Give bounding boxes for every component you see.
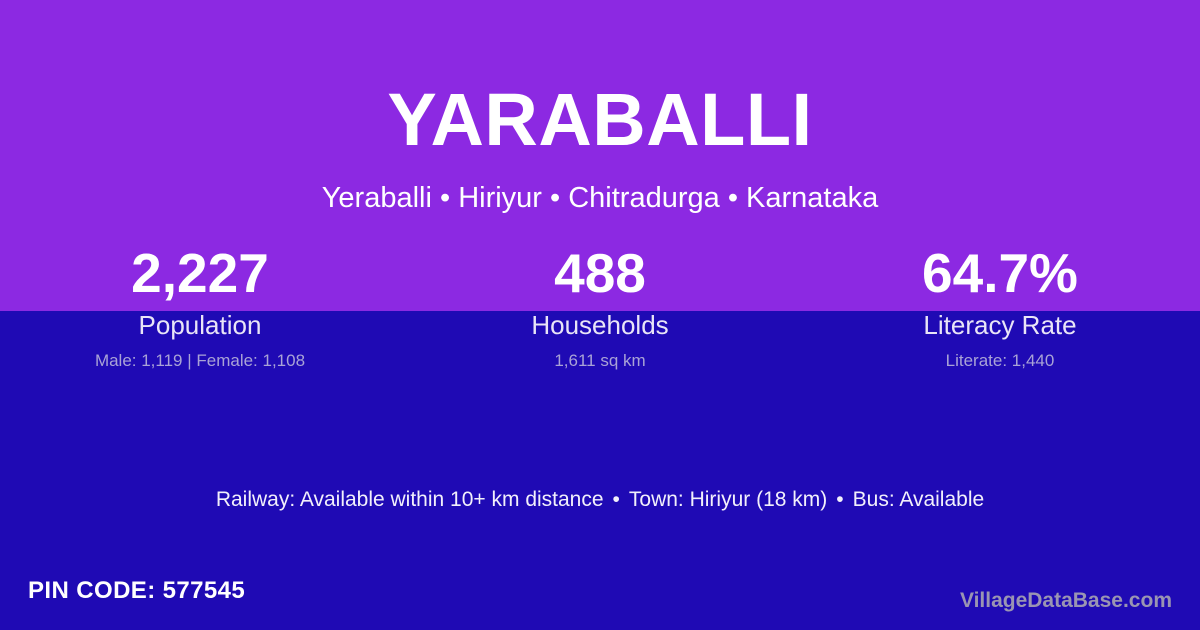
stat-label: Population xyxy=(0,311,400,341)
pin-code: PIN CODE: 577545 xyxy=(28,577,245,606)
breadcrumb: Yeraballi • Hiriyur • Chitradurga • Karn… xyxy=(0,180,1200,218)
amenity-separator: • xyxy=(604,488,629,511)
stat-subtext: Male: 1,119 | Female: 1,108 xyxy=(0,351,400,371)
amenity-railway: Railway: Available within 10+ km distanc… xyxy=(216,488,604,511)
stat-households: 488 Households 1,611 sq km xyxy=(400,243,800,371)
stat-subtext: 1,611 sq km xyxy=(400,351,800,371)
site-watermark: VillageDataBase.com xyxy=(960,588,1172,613)
stat-subtext: Literate: 1,440 xyxy=(800,351,1200,371)
amenity-separator: • xyxy=(827,488,852,511)
amenity-bus: Bus: Available xyxy=(853,488,985,511)
stat-label: Households xyxy=(400,311,800,341)
stat-value: 488 xyxy=(400,243,800,305)
stat-value: 2,227 xyxy=(0,243,400,305)
stat-label: Literacy Rate xyxy=(800,311,1200,341)
stat-literacy-rate: 64.7% Literacy Rate Literate: 1,440 xyxy=(800,243,1200,371)
amenities-line: Railway: Available within 10+ km distanc… xyxy=(0,487,1200,513)
stat-value: 64.7% xyxy=(800,243,1200,305)
village-info-card: YARABALLI Yeraballi • Hiriyur • Chitradu… xyxy=(0,0,1200,630)
amenity-town: Town: Hiriyur (18 km) xyxy=(629,488,827,511)
stat-population: 2,227 Population Male: 1,119 | Female: 1… xyxy=(0,243,400,371)
stats-row: 2,227 Population Male: 1,119 | Female: 1… xyxy=(0,243,1200,371)
page-title: YARABALLI xyxy=(0,83,1200,157)
